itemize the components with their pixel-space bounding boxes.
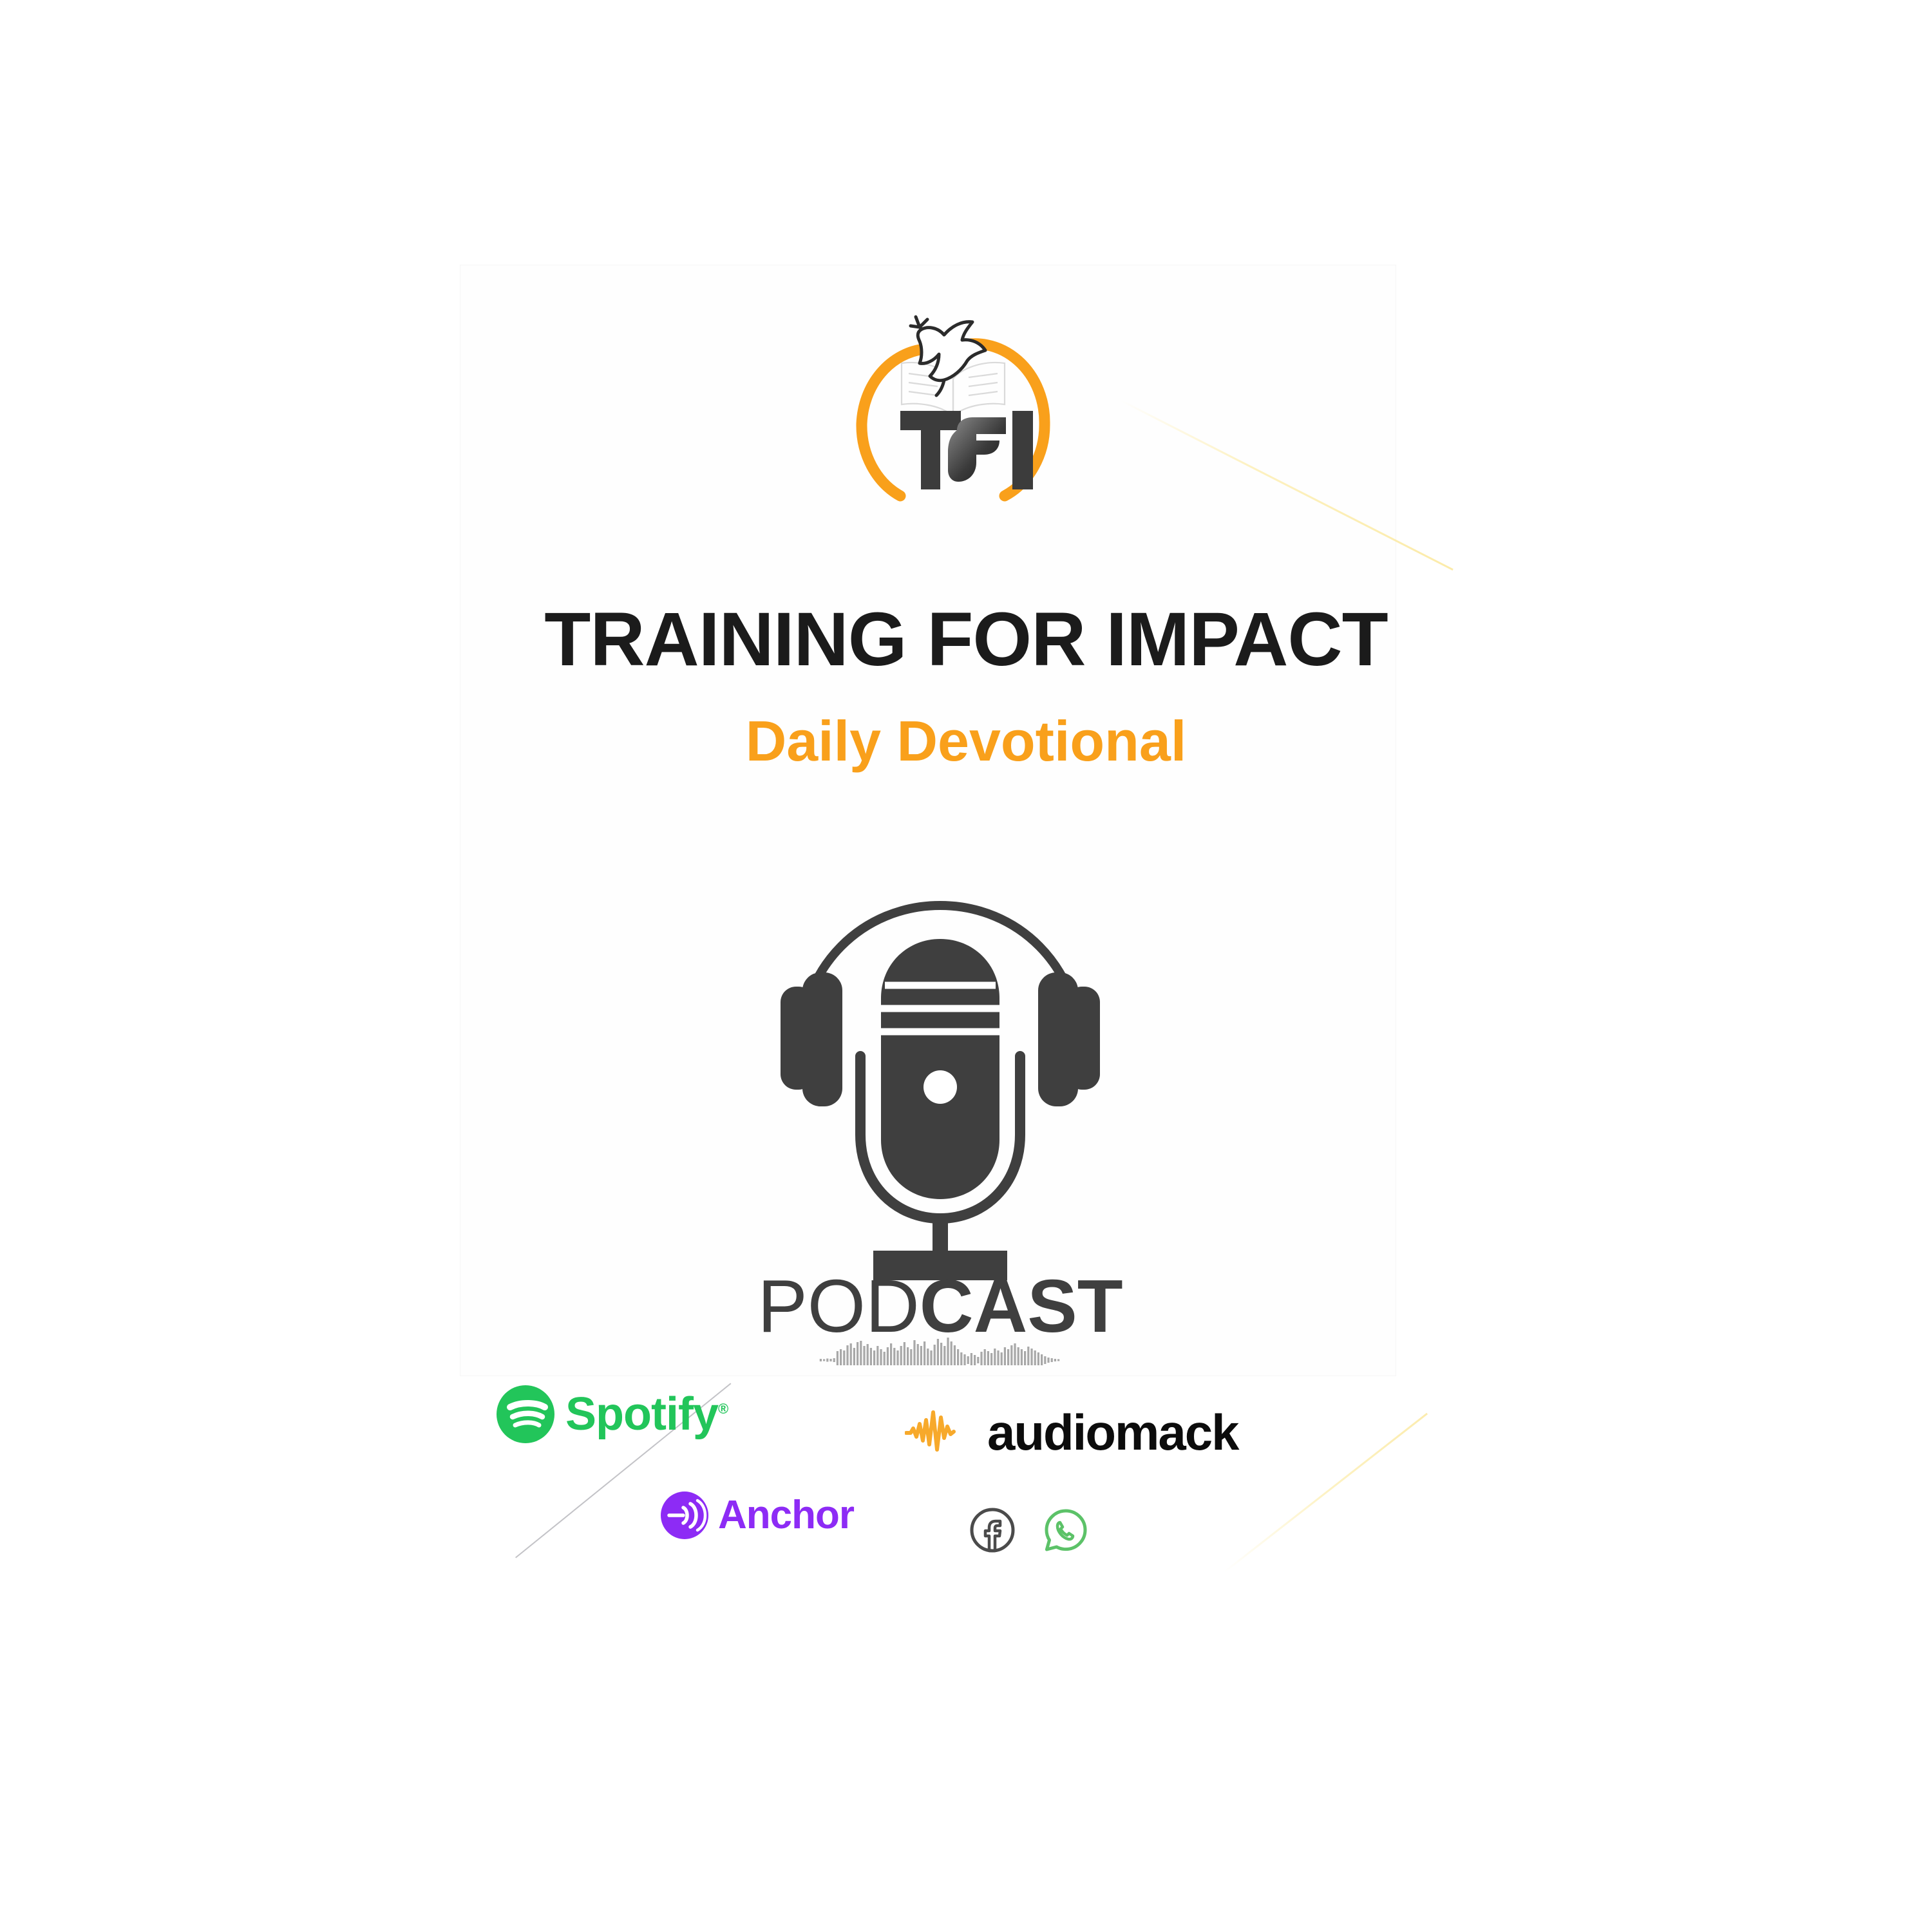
podcast-cover-poster: TRAINING FOR IMPACT Daily Devotional (0, 0, 1932, 1932)
waveform-bar (930, 1350, 932, 1365)
waveform-bar (1051, 1358, 1053, 1362)
headphone-earcup-left (781, 972, 842, 1106)
spotify-icon (496, 1385, 555, 1444)
waveform-bar (867, 1344, 869, 1365)
audiomack-wordmark: audiomack (987, 1407, 1238, 1457)
waveform-bar (900, 1346, 902, 1365)
waveform-bar (977, 1357, 979, 1363)
waveform-bar (951, 1341, 952, 1365)
headphone-earcup-right (1038, 972, 1100, 1106)
waveform-bar (907, 1347, 909, 1365)
waveform-bar (843, 1350, 845, 1365)
waveform-bar (1004, 1347, 1006, 1365)
audiomack-waveform-icon (905, 1407, 973, 1457)
waveform-bar (987, 1351, 989, 1365)
page-subtitle: Daily Devotional (0, 708, 1932, 774)
waveform-bar (954, 1345, 956, 1365)
waveform-bar (971, 1353, 972, 1365)
social-links-row (969, 1507, 1089, 1553)
spotify-wordmark: Spotify® (565, 1391, 728, 1437)
waveform-bar (963, 1354, 965, 1365)
tfi-letters (900, 411, 1033, 489)
waveform-bar (1018, 1347, 1019, 1365)
waveform-bar (1037, 1352, 1039, 1365)
waveform-bar (904, 1342, 905, 1365)
platform-anchor[interactable]: Anchor (660, 1491, 854, 1540)
waveform-bar (934, 1345, 936, 1365)
waveform-bar (913, 1340, 915, 1365)
waveform-bar (857, 1342, 858, 1365)
waveform-bar (829, 1359, 831, 1361)
waveform-bar (1044, 1356, 1046, 1364)
waveform-bar (853, 1348, 855, 1365)
waveform-bar (990, 1353, 992, 1365)
waveform-bar (1057, 1359, 1059, 1361)
waveform-bar (940, 1343, 942, 1365)
waveform-bar (920, 1346, 922, 1365)
waveform-bar (893, 1348, 895, 1365)
waveform-bar (837, 1351, 838, 1365)
whatsapp-icon[interactable] (1043, 1507, 1089, 1553)
waveform-bar (876, 1346, 878, 1365)
waveform-bar (880, 1349, 882, 1365)
waveform-bar (887, 1347, 889, 1365)
waveform-bar (994, 1349, 996, 1365)
waveform-bar (917, 1344, 919, 1365)
waveform-bar (1024, 1351, 1026, 1365)
podcast-word-bold: CAST (920, 1264, 1123, 1348)
waveform-bar (833, 1358, 835, 1362)
waveform-bar (1010, 1345, 1012, 1365)
waveform-bar (1030, 1349, 1032, 1365)
waveform-bar (960, 1352, 962, 1365)
waveform-bar (1014, 1343, 1016, 1365)
waveform-bar (1054, 1359, 1056, 1361)
waveform-bar (823, 1359, 825, 1361)
waveform-bar (1021, 1349, 1023, 1365)
waveform-bar (826, 1359, 828, 1362)
page-title: TRAINING FOR IMPACT (0, 596, 1932, 683)
waveform-bar (846, 1345, 848, 1365)
waveform-bar (923, 1341, 925, 1365)
waveform-bar (1007, 1349, 1009, 1365)
waveform-bar (927, 1349, 929, 1365)
anchor-wordmark: Anchor (718, 1495, 854, 1535)
waveform-bar (974, 1355, 976, 1365)
yellow-diagonal-decor-bottom (1224, 1413, 1428, 1573)
microphone-capsule (881, 939, 999, 1199)
microphone-stem (933, 1216, 948, 1251)
waveform-bar (820, 1359, 822, 1361)
tfi-logo (824, 283, 1082, 515)
facebook-icon[interactable] (969, 1507, 1016, 1553)
waveform-bar (957, 1349, 959, 1365)
waveform-bar (943, 1346, 945, 1365)
waveform-bar (910, 1349, 912, 1365)
waveform-bar (870, 1348, 872, 1365)
waveform-bar (997, 1350, 999, 1365)
waveform-bar (840, 1349, 842, 1365)
waveform-bar (967, 1356, 969, 1364)
waveform-bar (984, 1349, 986, 1365)
waveform-bar (873, 1350, 875, 1365)
waveform-bar (1034, 1350, 1036, 1365)
waveform-bar (1041, 1354, 1043, 1365)
platform-spotify[interactable]: Spotify® (496, 1385, 728, 1444)
podcast-word-light: POD (757, 1264, 919, 1348)
waveform-bar (1047, 1358, 1049, 1363)
waveform-bar (863, 1346, 865, 1365)
anchor-podcast-icon (660, 1491, 709, 1540)
waveform-bar (980, 1352, 982, 1365)
waveform-bar (896, 1350, 898, 1365)
podcast-wordmark: PODCAST (757, 1264, 1122, 1348)
waveform-bar (1001, 1352, 1003, 1365)
waveform-bar (937, 1339, 939, 1365)
waveform-bar (1027, 1347, 1029, 1365)
waveform-bar (860, 1341, 862, 1365)
podcast-mark: PODCAST (741, 863, 1140, 1365)
waveform-bar (884, 1352, 885, 1365)
platform-audiomack[interactable]: audiomack (905, 1407, 1238, 1457)
waveform-bar (850, 1343, 852, 1365)
waveform-bar (947, 1338, 949, 1365)
waveform-bar (890, 1343, 892, 1365)
